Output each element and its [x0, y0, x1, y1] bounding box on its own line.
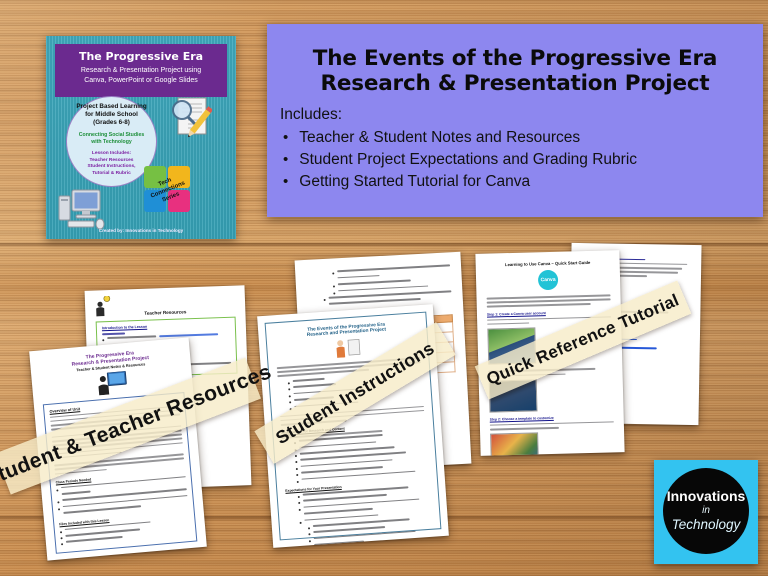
canva-tutorial-heading: Learning to Use Canva – Quick Start Guid… — [486, 259, 610, 267]
research-document-icon — [168, 96, 212, 142]
includes-item: • Getting Started Tutorial for Canva — [283, 171, 763, 193]
logo-line-3: Technology — [672, 517, 741, 533]
circle-line2: for Middle School — [67, 111, 156, 119]
includes-item: • Student Project Expectations and Gradi… — [283, 149, 763, 171]
bullet-icon: • — [283, 127, 288, 149]
presenter-clipart-icon — [93, 296, 116, 317]
includes-item-label: Getting Started Tutorial for Canva — [299, 171, 530, 193]
cover-title: The Progressive Era — [55, 50, 227, 63]
canva-step-2: Step 2: Choose a template to customize — [490, 414, 614, 421]
circle-green-line2: with Technology — [67, 139, 156, 146]
title-line-2: Research & Presentation Project — [267, 71, 763, 96]
innovations-in-technology-logo[interactable]: Innovations in Technology — [654, 460, 758, 564]
cover-subtitle-line1: Research & Presentation Project using — [55, 66, 227, 76]
includes-item-label: Student Project Expectations and Grading… — [299, 149, 637, 171]
teacher-resources-section-1: Introduction to the Lesson — [102, 322, 230, 330]
circle-line3: (Grades 6-8) — [67, 119, 156, 127]
product-cover-thumbnail[interactable]: The Progressive Era Research & Presentat… — [46, 36, 236, 239]
circle-purple-line3: Student Instructions, — [67, 164, 156, 171]
teacher-resources-heading: Teacher Resources — [95, 308, 235, 318]
includes-list: • Teacher & Student Notes and Resources … — [267, 127, 763, 193]
teacher-whiteboard-icon — [96, 371, 128, 396]
circle-purple-line1: Lesson Includes: — [67, 151, 156, 158]
student-presenting-icon — [334, 338, 361, 358]
cover-subtitle-line2: Canva, PowerPoint or Google Slides — [55, 76, 227, 86]
circle-line1: Project Based Learning — [67, 103, 156, 111]
title-line-1: The Events of the Progressive Era — [267, 46, 763, 71]
cover-header-band: The Progressive Era Research & Presentat… — [55, 44, 227, 97]
includes-label: Includes: — [280, 106, 763, 124]
slide-canvas: The Progressive Era Research & Presentat… — [0, 0, 768, 576]
logo-line-1: Innovations — [667, 489, 746, 504]
logo-line-2: in — [702, 504, 710, 517]
bullet-icon: • — [283, 149, 288, 171]
includes-item-label: Teacher & Student Notes and Resources — [299, 127, 580, 149]
canva-logo-icon: Canva — [538, 270, 559, 291]
logo-black-circle: Innovations in Technology — [663, 468, 749, 554]
bullet-icon: • — [283, 171, 288, 193]
circle-green-line1: Connecting Social Studies — [67, 132, 156, 139]
includes-item: • Teacher & Student Notes and Resources — [283, 127, 763, 149]
tutorial-screenshot-3 — [490, 432, 539, 456]
main-title-card: The Events of the Progressive Era Resear… — [267, 24, 763, 217]
cover-credit: Created by: Innovations in Technology — [46, 228, 236, 233]
desktop-computer-icon — [58, 188, 108, 230]
